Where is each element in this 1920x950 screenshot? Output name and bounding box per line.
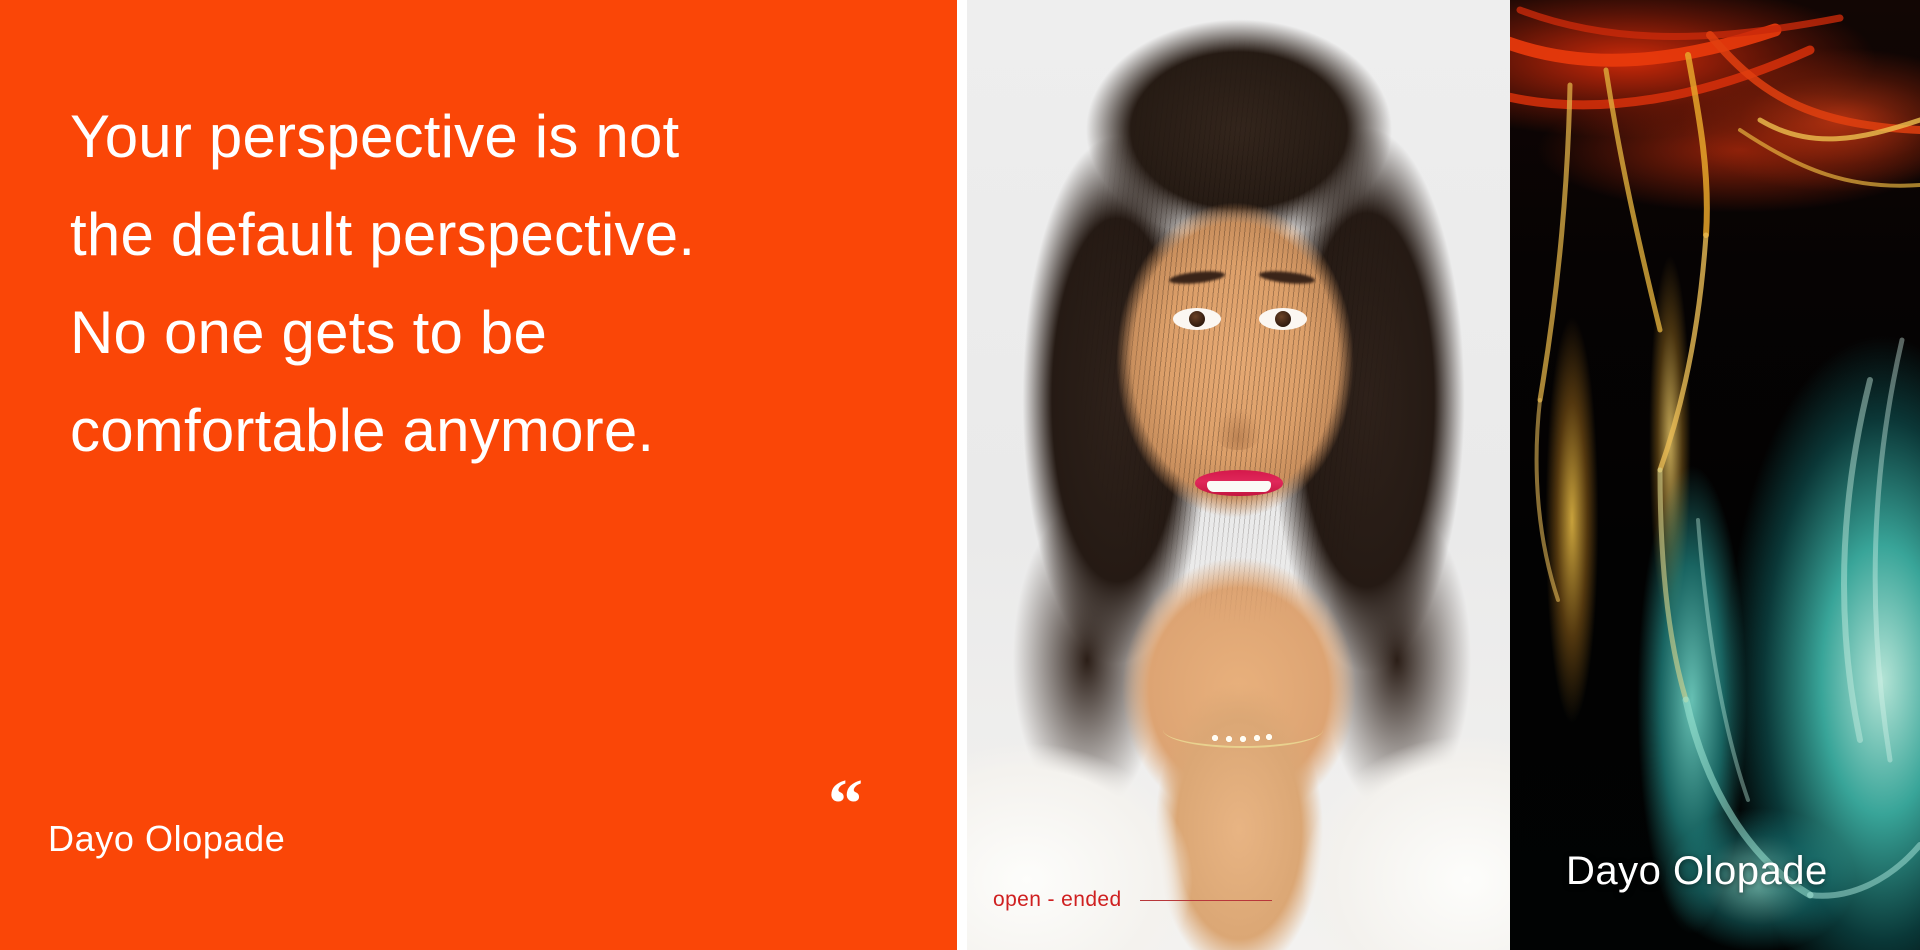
quote-panel: Your perspective is not the default pers… <box>0 0 957 950</box>
panel-divider <box>957 0 967 950</box>
eye-right <box>1259 308 1307 330</box>
quote-attribution: Dayo Olopade <box>48 818 285 860</box>
necklace <box>1163 712 1323 748</box>
eye-left <box>1173 308 1221 330</box>
caption-group: open - ended <box>993 888 1272 912</box>
open-ended-label: open - ended <box>993 888 1122 912</box>
nose <box>1215 408 1261 450</box>
slide-canvas: Your perspective is not the default pers… <box>0 0 1920 950</box>
fiber-panel-name-overlay: Dayo Olopade <box>1566 849 1828 894</box>
portrait-panel: open - ended <box>967 0 1510 950</box>
fiber-strands-overlay <box>1510 0 1920 950</box>
fiber-art-panel: Dayo Olopade <box>1510 0 1920 950</box>
quote-text: Your perspective is not the default pers… <box>70 88 900 480</box>
quotation-mark-icon: “ <box>828 770 863 840</box>
teeth <box>1207 481 1271 492</box>
caption-rule <box>1140 900 1272 901</box>
